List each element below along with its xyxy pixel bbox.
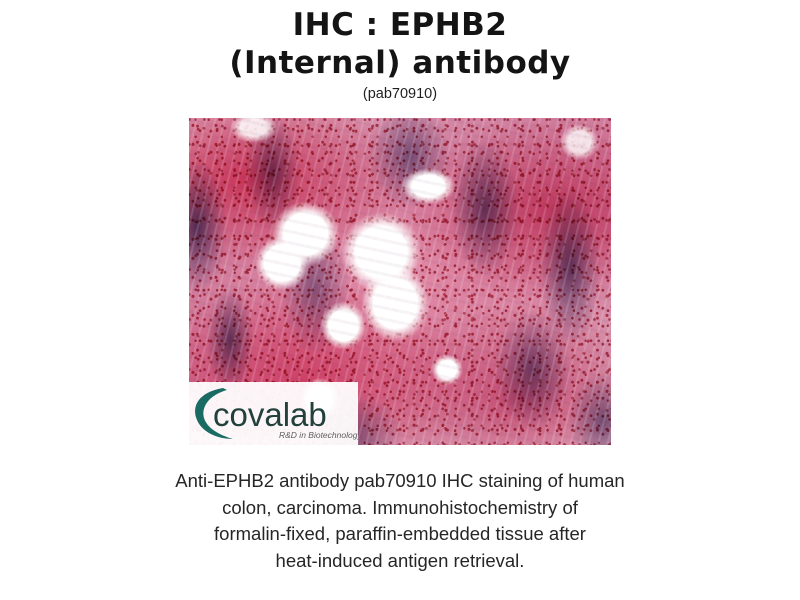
covalab-tagline-text: R&D in Biotechnology bbox=[279, 430, 358, 440]
micrograph-figure: covalab R&D in Biotechnology bbox=[189, 118, 611, 445]
product-code: (pab70910) bbox=[0, 85, 800, 103]
covalab-logo-icon: covalab R&D in Biotechnology bbox=[189, 382, 358, 445]
caption-line: colon, carcinoma. Immunohistochemistry o… bbox=[0, 495, 800, 522]
ihc-micrograph-image: covalab R&D in Biotechnology bbox=[189, 118, 611, 445]
caption-line: heat-induced antigen retrieval. bbox=[0, 548, 800, 575]
title-line-secondary: (Internal) antibody bbox=[0, 44, 800, 82]
title-line-primary: IHC : EPHB2 bbox=[0, 6, 800, 44]
figure-caption: Anti-EPHB2 antibody pab70910 IHC stainin… bbox=[0, 468, 800, 574]
caption-line: formalin-fixed, paraffin-embedded tissue… bbox=[0, 521, 800, 548]
page-title: IHC : EPHB2 (Internal) antibody (pab7091… bbox=[0, 0, 800, 103]
covalab-watermark: covalab R&D in Biotechnology bbox=[189, 382, 358, 445]
caption-line: Anti-EPHB2 antibody pab70910 IHC stainin… bbox=[0, 468, 800, 495]
covalab-brand-text: covalab bbox=[213, 396, 327, 433]
